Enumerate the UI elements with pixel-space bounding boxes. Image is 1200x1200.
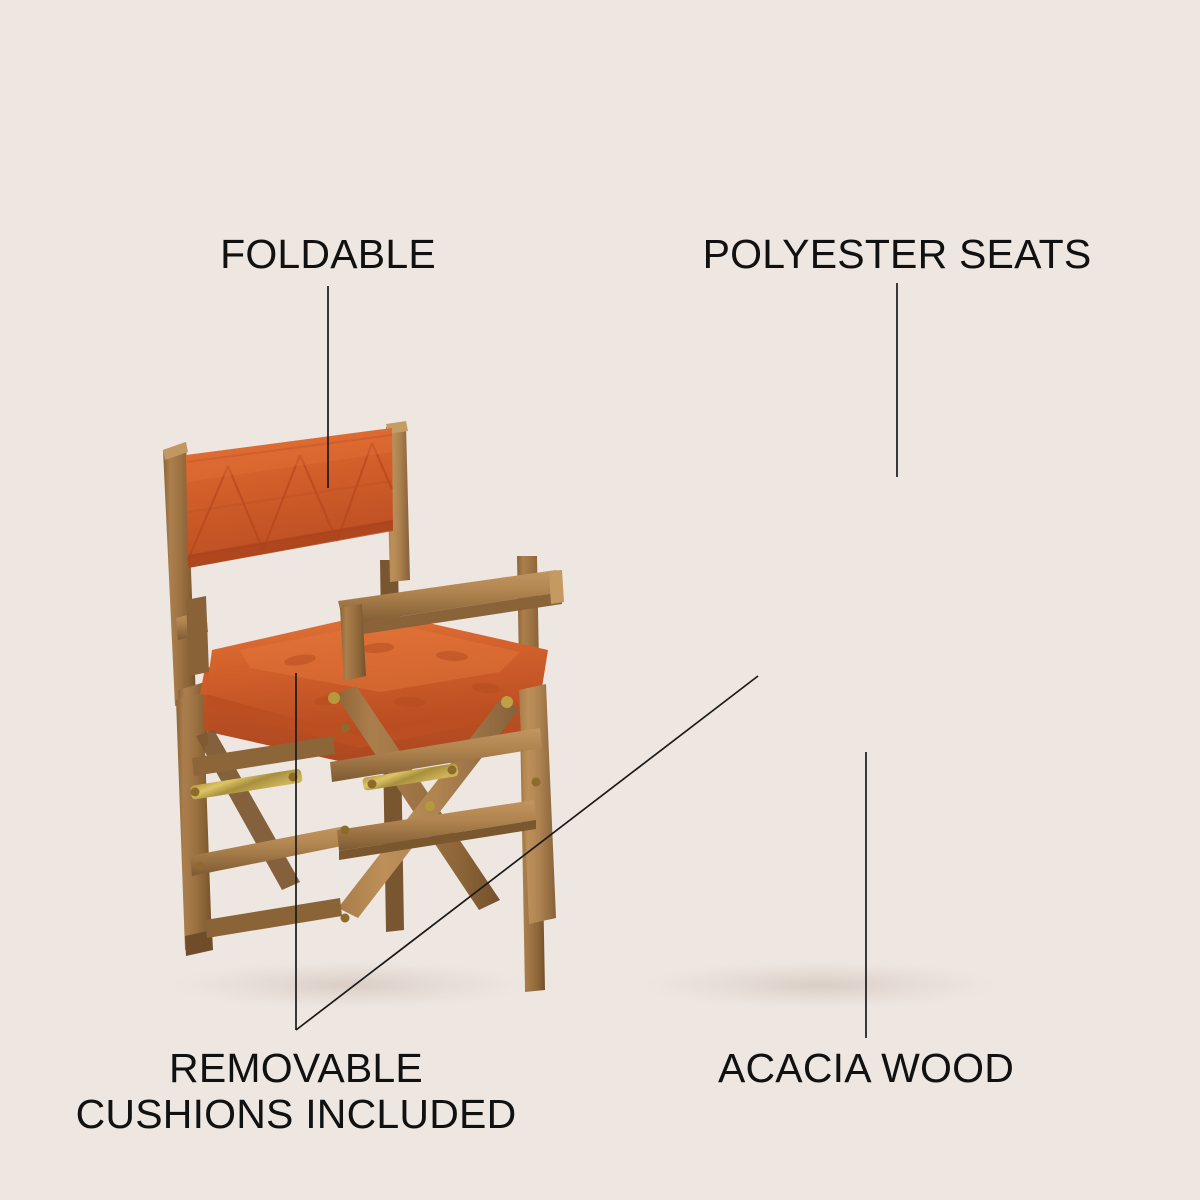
chair-left-armrest-right-cap [549,570,564,604]
callout-label-removable-line2: CUSHIONS INCLUDED [0,1092,592,1138]
chair-left-arm-post-far [186,596,209,676]
chair-left [163,421,564,992]
chair-left-stretcher-low [205,898,342,938]
chair-right-shadow [630,959,1010,1011]
callout-label-acacia-wood: ACACIA WOOD [566,1046,1166,1092]
callout-label-removable-cushions: REMOVABLE CUSHIONS INCLUDED [0,1046,592,1138]
chair-left-arm-post-right [340,604,366,681]
callout-label-polyester-seats: POLYESTER SEATS [597,232,1197,278]
chair-left-shadow [160,959,540,1011]
callout-label-foldable: FOLDABLE [0,232,656,278]
product-infographic: FOLDABLE POLYESTER SEATS REMOVABLE CUSHI… [0,0,1200,1200]
callout-label-removable-line1: REMOVABLE [0,1046,592,1092]
scene-illustration [0,0,1200,1200]
